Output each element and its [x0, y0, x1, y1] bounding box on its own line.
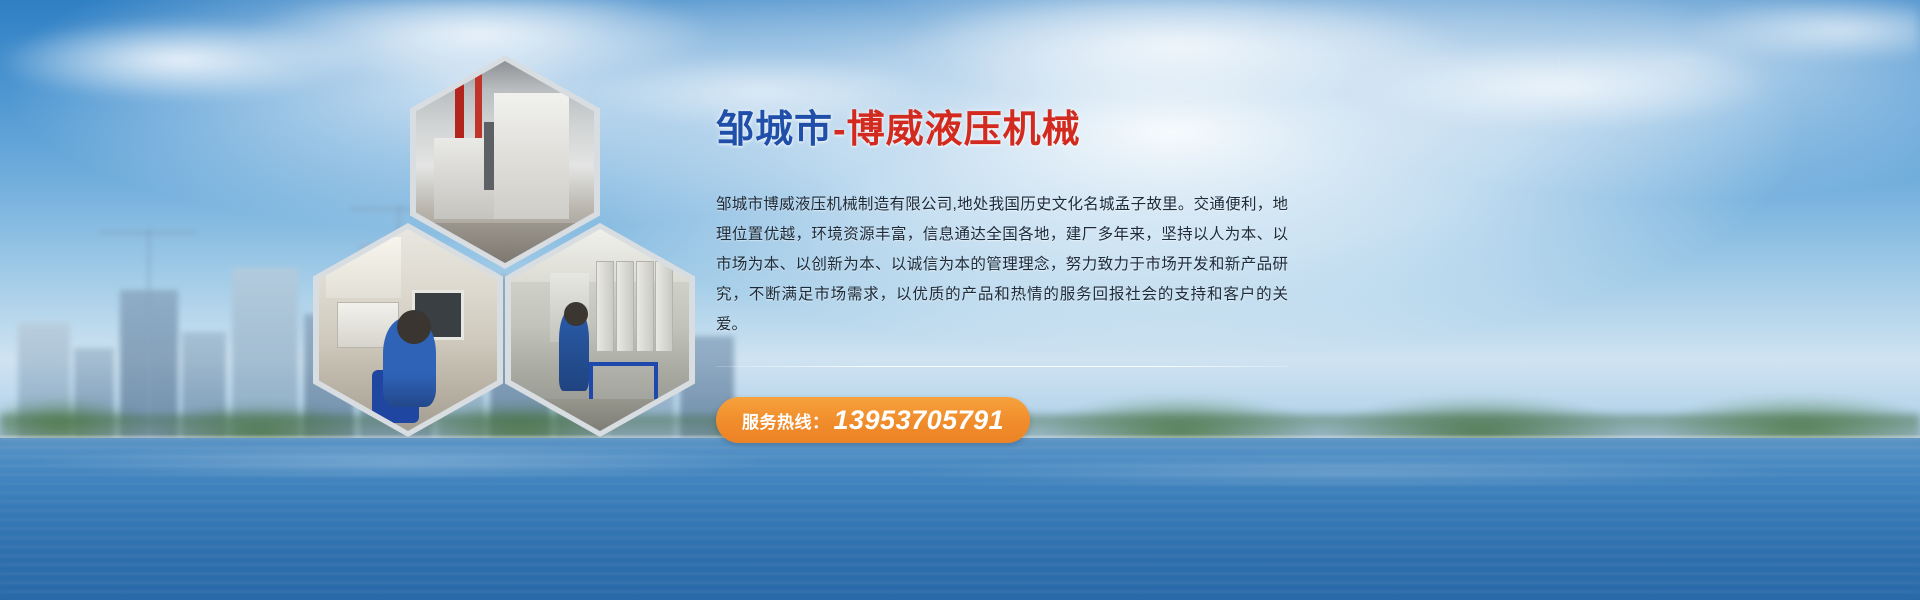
section-divider: [716, 366, 1288, 367]
photo-cnc-machining-workshop: [410, 55, 600, 269]
company-hero-banner: 邹城市-博威液压机械 邹城市博威液压机械制造有限公司,地处我国历史文化名城孟子故…: [0, 0, 1920, 600]
hotline-button[interactable]: 服务热线： 13953705791: [716, 397, 1030, 443]
photo-hydraulic-test-bench: [505, 223, 695, 437]
photo-laboratory-testing-operator: [313, 223, 503, 437]
company-description: 邹城市博威液压机械制造有限公司,地处我国历史文化名城孟子故里。交通便利，地理位置…: [716, 190, 1288, 340]
hotline-number: 13953705791: [834, 405, 1005, 436]
banner-content: 邹城市-博威液压机械 邹城市博威液压机械制造有限公司,地处我国历史文化名城孟子故…: [716, 104, 1296, 443]
page-title: 邹城市-博威液压机械: [716, 104, 1296, 156]
hotline-label: 服务热线：: [742, 408, 830, 433]
river-water: [0, 438, 1920, 600]
title-city-part: 邹城市: [716, 109, 833, 151]
hexagon-photo-cluster: [305, 55, 705, 445]
title-company-part: -博威液压机械: [833, 109, 1081, 151]
